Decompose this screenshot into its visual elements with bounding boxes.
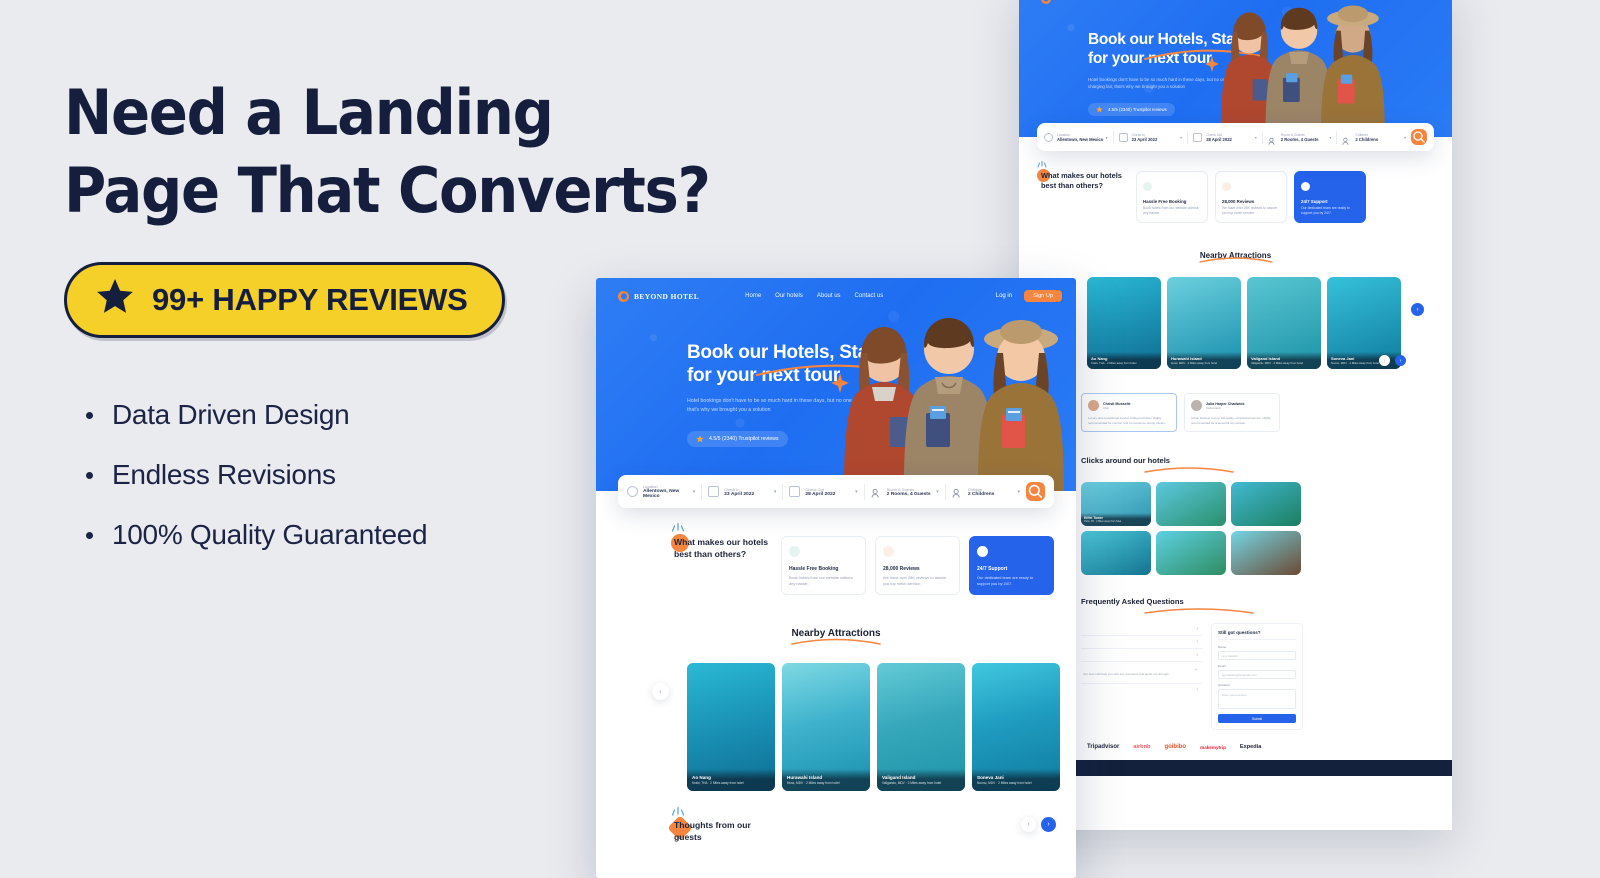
- attraction-sub: Krabi, THA · 2 Miles away from hotel: [1091, 361, 1157, 365]
- status-badge: 99+ HAPPY REVIEWS: [64, 262, 505, 338]
- badge-label: 99+ HAPPY REVIEWS: [152, 282, 468, 318]
- hero-people-photo: [824, 295, 1074, 491]
- back-footer-bar: [1019, 760, 1452, 776]
- chevron-down-icon[interactable]: ▾: [693, 489, 696, 495]
- attraction-sub: Krabi, THA · 2 Miles away from hotel: [692, 781, 770, 785]
- partner-logo: makemytrip: [1200, 745, 1226, 750]
- nav-item-contact-us[interactable]: Contact us: [855, 293, 884, 299]
- search-field-checkin[interactable]: Check In 23 April 2022: [708, 486, 774, 497]
- front-features: What makes our hotels best than others? …: [596, 508, 1076, 595]
- back-search-bar[interactable]: Location Allentown, New Mexico ▾ Check I…: [1037, 123, 1434, 151]
- feature-card[interactable]: 28,000 Reviews We have over 28K reviews …: [1215, 171, 1287, 223]
- divider: [1113, 131, 1114, 144]
- divider: [1262, 131, 1263, 144]
- faq-row[interactable]: ›: [1081, 684, 1203, 697]
- section-title: Frequently Asked Questions: [1081, 597, 1184, 606]
- front-rating-badge: 4.5/5 (2340) Trustpilot reviews: [687, 431, 788, 447]
- name-field[interactable]: Guy Hawkins: [1218, 651, 1296, 660]
- attraction-sub: Noonu, MDV · 2 Miles away from hotel: [977, 781, 1055, 785]
- feature-desc: Our dedicated team are ready to support …: [1301, 206, 1359, 216]
- search-submit-button[interactable]: [1411, 129, 1427, 145]
- feature-desc: We have over 28K reviews to assure you t…: [883, 575, 952, 587]
- chevron-down-icon[interactable]: ▾: [1404, 135, 1406, 140]
- gallery-item[interactable]: Eiffel TowerParis, FR · 2 Miles away fro…: [1081, 482, 1151, 526]
- calendar-icon: [1119, 133, 1128, 142]
- attraction-sub: Huss, MDV · 2 Miles away from hotel: [787, 781, 865, 785]
- gallery-item[interactable]: [1156, 531, 1226, 575]
- divider: [782, 484, 783, 500]
- search-submit-button[interactable]: [1026, 482, 1045, 501]
- testimonials-prev-button[interactable]: ‹: [1021, 817, 1036, 832]
- faq-answer: Our team will help you with any question…: [1083, 672, 1198, 677]
- feature-card[interactable]: Hassle Free Booking Book hotels from our…: [1136, 171, 1208, 223]
- search-field-children[interactable]: Children 2 Childrens: [952, 486, 1018, 497]
- divider: [1336, 131, 1337, 144]
- email-field[interactable]: guy.hawkins@example.com: [1218, 670, 1296, 679]
- chevron-down-icon[interactable]: ▾: [1180, 135, 1182, 140]
- chevron-down-icon[interactable]: ▾: [774, 489, 777, 495]
- search-field-rooms[interactable]: Room & Guests 2 Rooms, 4 Guests: [1268, 133, 1330, 142]
- calendar-icon: [789, 486, 800, 497]
- field-value: 23 April 2022: [1132, 137, 1158, 142]
- feature-card[interactable]: Hassle Free Booking Book hotels from our…: [781, 536, 866, 595]
- search-icon: [1411, 129, 1427, 145]
- nav-item-home[interactable]: Home: [745, 293, 761, 299]
- brand-name: BEYOND HOTEL: [634, 292, 699, 301]
- back-attractions-heading-wrap: Nearby Attractions: [1019, 245, 1452, 263]
- section-title: Thoughts from our guests: [674, 819, 774, 843]
- field-value: 2 Childrens: [968, 492, 995, 497]
- attraction-name: Hurawahi Island: [787, 775, 865, 780]
- avatar: [1088, 400, 1099, 411]
- faq-contact-form: Still got questions? Name Guy Hawkins Em…: [1211, 623, 1303, 730]
- location-icon: [627, 486, 638, 497]
- search-field-checkin[interactable]: Check In 23 April 2022: [1119, 133, 1181, 142]
- back-testimonials: ‹ › Christi Musselle USA Luxury and exce…: [1019, 369, 1452, 432]
- gallery-item[interactable]: [1156, 482, 1226, 526]
- brand-mark-icon: [618, 291, 629, 302]
- attraction-name: Soneva Jani: [977, 775, 1055, 780]
- gallery-item[interactable]: [1231, 482, 1301, 526]
- sparkle-icon: [670, 520, 686, 534]
- nav-item-our-hotels[interactable]: Our hotels: [775, 293, 803, 299]
- nav-actions: Log in Sign Up: [996, 290, 1062, 302]
- testimonials-next-button[interactable]: ›: [1041, 817, 1056, 832]
- hero-people-photo: [1204, 0, 1394, 137]
- field-value: 2 Rooms, 4 Guests: [1281, 137, 1319, 142]
- section-title: Clicks around our hotels: [1081, 456, 1170, 465]
- field-value: 23 April 2022: [724, 492, 754, 497]
- feature-title: 24/7 Support: [977, 566, 1046, 572]
- testimonial-meta: USA: [1103, 406, 1131, 410]
- search-field-checkout[interactable]: Check Out 28 April 2022: [1193, 133, 1255, 142]
- avatar: [1191, 400, 1202, 411]
- star-icon: [95, 278, 135, 321]
- thumbs-up-icon: [789, 546, 800, 557]
- testimonial-name: Christi Musselle: [1103, 402, 1131, 406]
- feature-title: Hassle Free Booking: [789, 566, 858, 572]
- sparkle-icon: [1036, 159, 1048, 169]
- faq-row[interactable]: ›: [1081, 636, 1203, 649]
- partner-logo: airbnb: [1133, 744, 1150, 750]
- attraction-card[interactable]: Soneva Jani Noonu, MDV · 2 Miles away fr…: [972, 663, 1060, 791]
- feature-title: 24/7 Support: [1301, 199, 1359, 204]
- divider: [945, 484, 946, 500]
- back-rating-badge: 4.5/5 (2340) Trustpilot reviews: [1088, 103, 1175, 116]
- question-label: Question: [1218, 683, 1296, 687]
- front-search-bar[interactable]: Location Allentown, New Mexico ▾ Check I…: [618, 475, 1054, 508]
- divider: [701, 484, 702, 500]
- front-hero: BEYOND HOTEL Home Our hotels About us Co…: [596, 278, 1076, 491]
- search-field-location[interactable]: Location Allentown, New Mexico: [1044, 133, 1106, 142]
- children-icon: [952, 486, 963, 497]
- section-underline-icon: [1143, 607, 1255, 615]
- attractions-prev-button[interactable]: ‹: [652, 683, 669, 700]
- calendar-icon: [708, 486, 719, 497]
- attraction-card[interactable]: Soneva JaniNoonu, MDV · 2 Miles away fro…: [1327, 277, 1401, 369]
- search-icon: [1026, 482, 1045, 501]
- attraction-card[interactable]: Valigand Island Valigandu, MDV · 2 Miles…: [877, 663, 965, 791]
- back-faq: Frequently Asked Questions › › › ⌄ Our t…: [1019, 575, 1452, 730]
- faq-row-expanded[interactable]: ⌄ Our team will help you with any questi…: [1081, 662, 1203, 684]
- back-features-heading: What makes our hotels best than others?: [1041, 171, 1127, 191]
- attraction-card[interactable]: Valigand IslandValigandu, MDV · 2 Miles …: [1247, 277, 1321, 369]
- back-navbar: BEYOND HOTEL: [1019, 0, 1452, 4]
- divider: [1187, 131, 1188, 144]
- chevron-down-icon[interactable]: ▾: [1106, 135, 1108, 140]
- testimonials-next-button[interactable]: ›: [1395, 355, 1406, 366]
- reviews-icon: [1222, 182, 1231, 191]
- star-icon: [1096, 106, 1103, 113]
- attraction-card[interactable]: Hurawahi IslandHuss, MDV · 2 Miles away …: [1167, 277, 1241, 369]
- field-value: 2 Rooms, 4 Guests: [887, 492, 931, 497]
- faq-accordion: › › › ⌄ Our team will help you with any …: [1081, 623, 1203, 730]
- partner-logo: Expedia: [1240, 744, 1261, 750]
- rating-text: 4.5/5 (2340) Trustpilot reviews: [1108, 107, 1167, 112]
- feature-card[interactable]: 28,000 Reviews We have over 28K reviews …: [875, 536, 960, 595]
- chevron-down-icon[interactable]: ▾: [1018, 489, 1021, 495]
- attractions-next-button[interactable]: ›: [1411, 303, 1424, 316]
- front-testimonials-heading-wrap: Thoughts from our guests ‹ ›: [596, 791, 1076, 843]
- gallery-sub: Paris, FR · 2 Miles away from hotel: [1084, 520, 1148, 523]
- section-underline-icon: [1143, 466, 1235, 474]
- mockup-back: BEYOND HOTEL Book our Hotels, Stays for …: [1019, 0, 1452, 830]
- feature-card-highlight[interactable]: 24/7 Support Our dedicated team are read…: [969, 536, 1054, 595]
- attraction-sub: Valigandu, MDV · 2 Miles away from hotel: [882, 781, 960, 785]
- search-field-location[interactable]: Location Allentown, New Mexico: [627, 484, 693, 499]
- front-attractions-heading-wrap: Nearby Attractions: [596, 623, 1076, 641]
- rating-text: 4.5/5 (2340) Trustpilot reviews: [709, 436, 779, 442]
- thumbs-up-icon: [1143, 182, 1152, 191]
- faq-row[interactable]: ›: [1081, 623, 1203, 636]
- support-icon: [1301, 182, 1310, 191]
- faq-row[interactable]: ›: [1081, 649, 1203, 662]
- chevron-down-icon[interactable]: ▾: [936, 489, 939, 495]
- field-value: Allentown, New Mexico: [643, 489, 693, 499]
- feature-desc: We have over 28K reviews to assure you t…: [1222, 206, 1280, 216]
- feature-title: 28,000 Reviews: [883, 566, 952, 572]
- back-partners: Tripadvisor airbnb goibibo makemytrip Ex…: [1019, 730, 1452, 750]
- nav-item-about-us[interactable]: About us: [817, 293, 841, 299]
- feature-title: Hassle Free Booking: [1143, 199, 1201, 204]
- back-hero: BEYOND HOTEL Book our Hotels, Stays for …: [1019, 0, 1452, 137]
- partner-logo: Tripadvisor: [1087, 744, 1119, 750]
- children-icon: [1342, 133, 1351, 142]
- brand-logo[interactable]: BEYOND HOTEL: [618, 291, 699, 302]
- search-field-checkout[interactable]: Check Out 28 April 2022: [789, 486, 855, 497]
- back-attraction-carousel: Ao NangKrabi, THA · 2 Miles away from ho…: [1019, 263, 1452, 369]
- feature-desc: Our dedicated team are ready to support …: [977, 575, 1046, 587]
- name-label: Name: [1218, 645, 1296, 649]
- field-value: Allentown, New Mexico: [1057, 137, 1103, 142]
- testimonials-prev-button[interactable]: ‹: [1379, 355, 1390, 366]
- sparkle-icon: [670, 804, 686, 818]
- attraction-card[interactable]: Ao Nang Krabi, THA · 2 Miles away from h…: [687, 663, 775, 791]
- chevron-down-icon[interactable]: ▾: [1255, 135, 1257, 140]
- nav-links: Home Our hotels About us Contact us: [745, 293, 883, 299]
- attraction-sub: Valigandu, MDV · 2 Miles away from hotel: [1251, 361, 1317, 365]
- testimonial-meta: Switzerland: [1206, 406, 1245, 410]
- page-title: Need a Landing Page That Converts?: [64, 74, 715, 230]
- testimonial-card[interactable]: Julia Harper Chadwick Switzerland Urban …: [1184, 393, 1280, 432]
- mockup-front: BEYOND HOTEL Home Our hotels About us Co…: [596, 278, 1076, 878]
- submit-button[interactable]: Submit: [1218, 714, 1296, 723]
- form-title: Still got questions?: [1218, 630, 1296, 640]
- back-gallery: Clicks around our hotels Eiffel TowerPar…: [1019, 432, 1452, 575]
- testimonial-card[interactable]: Christi Musselle USA Luxury and exceptio…: [1081, 393, 1177, 432]
- calendar-icon: [1193, 133, 1202, 142]
- testimonial-name: Julia Harper Chadwick: [1206, 402, 1245, 406]
- field-value: 28 April 2022: [1206, 137, 1232, 142]
- back-features: What makes our hotels best than others? …: [1019, 151, 1452, 223]
- attraction-sub: Huss, MDV · 2 Miles away from hotel: [1171, 361, 1237, 365]
- testimonial-text: Luxury and exceptional service at Beyond…: [1088, 416, 1170, 425]
- attraction-card[interactable]: Ao NangKrabi, THA · 2 Miles away from ho…: [1087, 277, 1161, 369]
- guests-icon: [1268, 133, 1277, 142]
- feature-card-highlight[interactable]: 24/7 Support Our dedicated team are read…: [1294, 171, 1366, 223]
- front-features-heading: What makes our hotels best than others?: [674, 536, 769, 560]
- field-value: 2 Childrens: [1355, 137, 1378, 142]
- field-value: 28 April 2022: [805, 492, 835, 497]
- front-attraction-carousel: ‹ Ao Nang Krabi, THA · 2 Miles away from…: [596, 641, 1076, 791]
- partner-logo: goibibo: [1164, 744, 1186, 750]
- email-label: Email: [1218, 664, 1296, 668]
- gallery-item[interactable]: [1081, 531, 1151, 575]
- hero-title-line2: for your next tour: [1088, 50, 1212, 67]
- feature-desc: Book hotels from our website without any…: [789, 575, 858, 587]
- reviews-icon: [883, 546, 894, 557]
- testimonial-text: Urban Retreat: luxury, tranquility, exce…: [1191, 416, 1273, 425]
- login-link[interactable]: Log in: [996, 293, 1012, 299]
- chevron-down-icon[interactable]: ▾: [1329, 135, 1331, 140]
- search-field-children[interactable]: Children 2 Childrens: [1342, 133, 1404, 142]
- attraction-name: Valigand Island: [882, 775, 960, 780]
- attraction-card[interactable]: Hurawahi Island Huss, MDV · 2 Miles away…: [782, 663, 870, 791]
- feature-desc: Book hotels from our website without any…: [1143, 206, 1201, 216]
- location-icon: [1044, 133, 1053, 142]
- gallery-item[interactable]: [1231, 531, 1301, 575]
- hero-title-line2: for your next tour: [687, 365, 840, 386]
- support-icon: [977, 546, 988, 557]
- signup-button[interactable]: Sign Up: [1024, 290, 1062, 302]
- divider: [864, 484, 865, 500]
- guests-icon: [871, 486, 882, 497]
- front-navbar: BEYOND HOTEL Home Our hotels About us Co…: [596, 278, 1076, 302]
- search-field-rooms[interactable]: Room & Guests 2 Rooms, 4 Guests: [871, 486, 937, 497]
- question-field[interactable]: Enter your question...: [1218, 689, 1296, 709]
- brand-mark-icon: [1041, 0, 1051, 4]
- feature-title: 28,000 Reviews: [1222, 199, 1280, 204]
- star-icon: [696, 435, 704, 443]
- attraction-name: Ao Nang: [692, 775, 770, 780]
- chevron-down-icon[interactable]: ▾: [855, 489, 858, 495]
- brand-logo: BEYOND HOTEL: [1041, 0, 1116, 4]
